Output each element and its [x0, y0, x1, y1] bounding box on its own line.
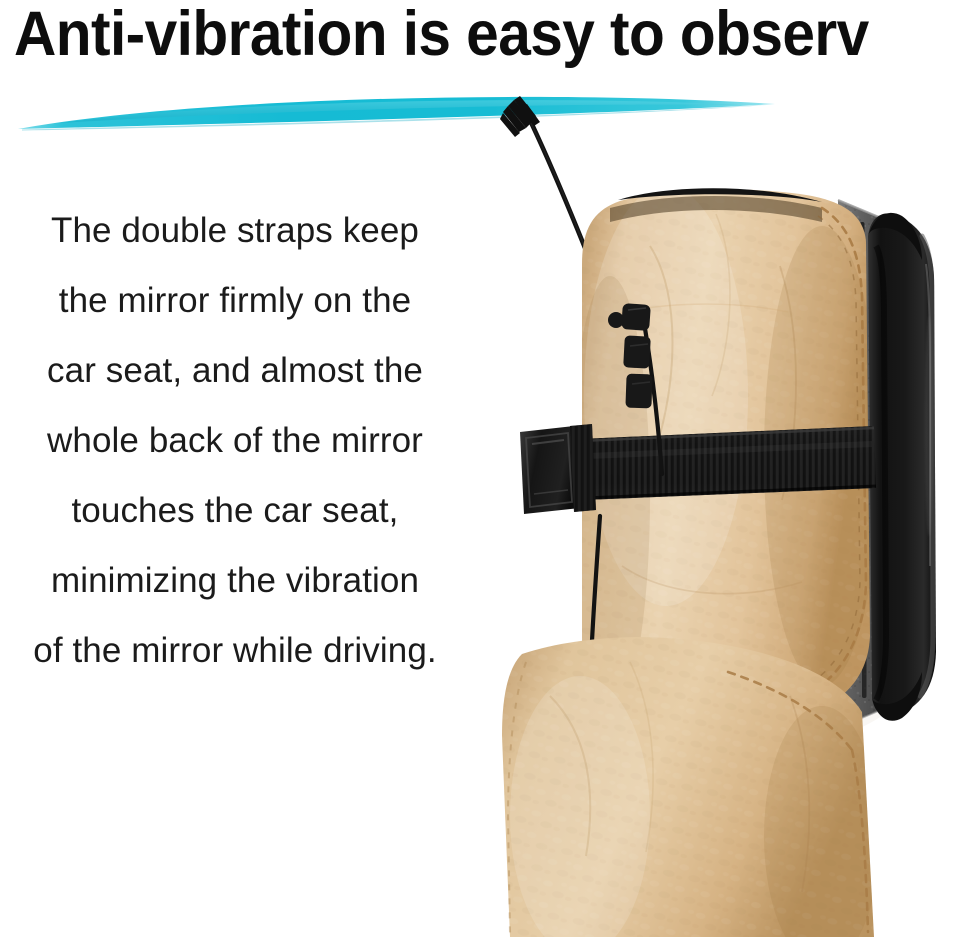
copy-line: touches the car seat,	[0, 476, 470, 546]
copy-line: the mirror firmly on the	[0, 266, 470, 336]
body-copy: The double straps keep the mirror firmly…	[0, 196, 470, 686]
copy-line: The double straps keep	[0, 196, 470, 266]
copy-line: minimizing the vibration	[0, 546, 470, 616]
copy-line: of the mirror while driving.	[0, 616, 470, 686]
copy-line: car seat, and almost the	[0, 336, 470, 406]
copy-line: whole back of the mirror	[0, 406, 470, 476]
mirror-housing	[868, 213, 936, 721]
product-photo	[470, 96, 956, 937]
strap-buckle	[520, 424, 596, 514]
page-title: Anti-vibration is easy to observ	[14, 0, 956, 70]
product-feature-image: Anti-vibration is easy to observ	[0, 0, 956, 937]
